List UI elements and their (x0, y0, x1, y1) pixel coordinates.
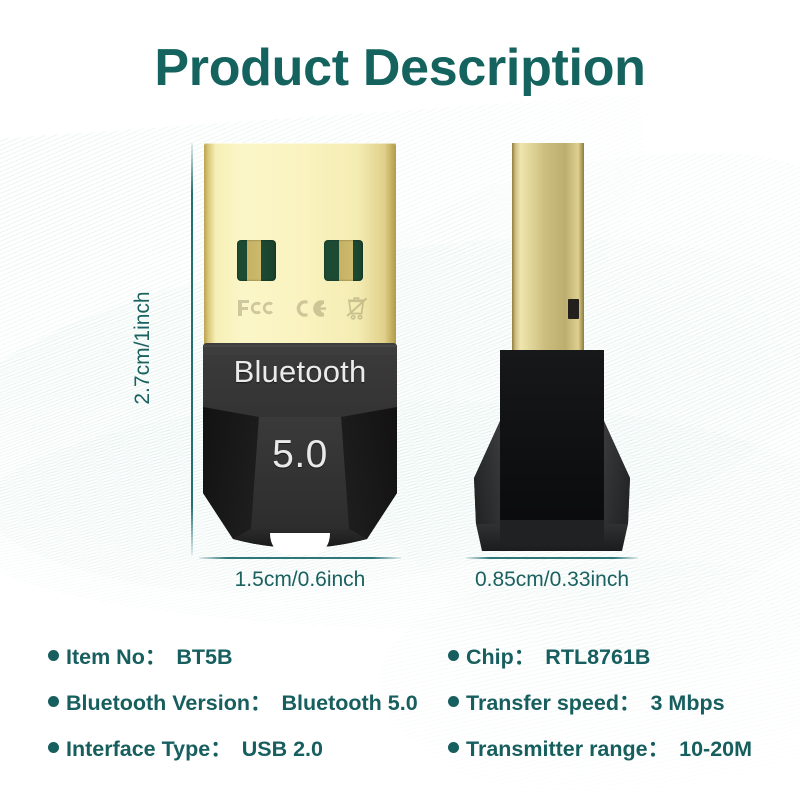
product-side-view (462, 143, 642, 555)
spec-label: Bluetooth Version (66, 691, 250, 716)
front-width-measure-line (199, 557, 401, 559)
spec-item-transfer-speed: Transfer speed ： 3 Mbps (448, 686, 752, 732)
spec-value: 10-20M (679, 737, 752, 762)
spec-item-interface-type: Interface Type ： USB 2.0 (48, 732, 418, 778)
spec-colon: ： (145, 640, 167, 671)
height-measure-line (191, 143, 193, 555)
usb-blade-notch (568, 299, 579, 319)
spec-label: Item No (66, 645, 145, 670)
spec-column-right: Chip ： RTL8761B Transfer speed ： 3 Mbps … (448, 640, 752, 778)
page-title: Product Description (0, 38, 800, 98)
spec-item-chip: Chip ： RTL8761B (448, 640, 752, 686)
product-description-page: Product Description (0, 0, 800, 800)
spec-colon: ： (648, 732, 670, 763)
spec-label: Transfer speed (466, 691, 619, 716)
spec-colon: ： (210, 732, 232, 763)
front-width-dimension-label: 1.5cm/0.6inch (199, 568, 401, 592)
ce-icon (294, 298, 326, 319)
usb-connector-gold-plate (204, 143, 396, 345)
spec-label: Transmitter range (466, 737, 648, 762)
spec-colon: ： (250, 686, 272, 717)
bullet-icon (448, 742, 459, 753)
bullet-icon (448, 696, 459, 707)
spec-column-left: Item No ： BT5B Bluetooth Version ： Bluet… (48, 640, 418, 778)
version-label: 5.0 (199, 433, 401, 477)
usb-contact-right (324, 240, 363, 281)
spec-item-transmitter-range: Transmitter range ： 10-20M (448, 732, 752, 778)
fcc-icon (237, 298, 275, 318)
spec-label: Chip (466, 645, 514, 670)
bullet-icon (448, 650, 459, 661)
height-dimension-label: 2.7cm/1inch (131, 291, 155, 404)
spec-value: USB 2.0 (242, 737, 323, 762)
spec-item-item-no: Item No ： BT5B (48, 640, 418, 686)
spec-item-bluetooth-version: Bluetooth Version ： Bluetooth 5.0 (48, 686, 418, 732)
spec-value: 3 Mbps (650, 691, 724, 716)
bullet-icon (48, 696, 59, 707)
spec-value: Bluetooth 5.0 (281, 691, 417, 716)
spec-colon: ： (514, 640, 536, 671)
usb-blade-side (512, 143, 584, 355)
product-front-view: Bluetooth 5.0 (199, 143, 401, 555)
side-width-measure-line (466, 557, 638, 559)
specification-list: Item No ： BT5B Bluetooth Version ： Bluet… (0, 640, 800, 790)
brand-label: Bluetooth (199, 354, 401, 390)
bullet-icon (48, 742, 59, 753)
adapter-body-shell-side (462, 348, 642, 555)
side-width-dimension-label: 0.85cm/0.33inch (452, 568, 652, 592)
spec-label: Interface Type (66, 737, 210, 762)
spec-colon: ： (619, 686, 641, 717)
certification-marks (237, 291, 369, 325)
weee-bin-icon (345, 295, 369, 321)
spec-value: RTL8761B (545, 645, 650, 670)
usb-contact-left (237, 240, 276, 281)
bullet-icon (48, 650, 59, 661)
spec-value: BT5B (176, 645, 232, 670)
